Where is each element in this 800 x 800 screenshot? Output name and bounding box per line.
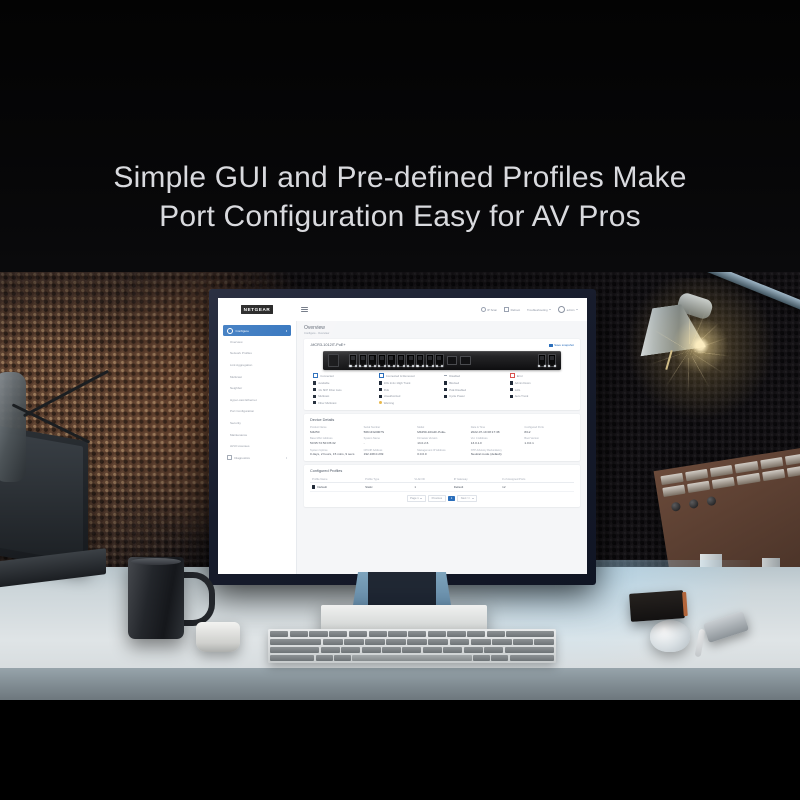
legend-item: Connected	[313, 373, 375, 378]
detail-field: Date & Time2022-07-19 08:17:38	[471, 426, 521, 434]
configured-profiles-title: Configured Profiles	[310, 469, 574, 473]
switch-ports	[349, 354, 471, 367]
lamp-light-glow	[612, 278, 782, 428]
sidebar-item-multicast[interactable]: Multicast	[218, 371, 296, 383]
studio-microphone	[0, 372, 26, 482]
poe-off-icon	[444, 388, 447, 391]
gear-icon	[227, 328, 233, 334]
detail-value: 0 days, 2 hours, 15 mins, 9 secs	[310, 452, 360, 456]
sidebar-item-maintenance[interactable]: Maintenance	[218, 429, 296, 441]
switch-port[interactable]	[368, 354, 376, 367]
lag-icon	[510, 388, 513, 391]
table-row[interactable]: Default Static 1 Default 12	[310, 483, 574, 492]
sidebar-item-port-configuration[interactable]: Port Configuration	[218, 406, 296, 418]
legend-label: Blocked	[449, 381, 459, 385]
legend-item: Fiber Multicast	[313, 401, 375, 405]
wrench-icon	[227, 455, 232, 460]
detail-key: Ver. 4 Address	[471, 437, 521, 440]
breadcrumb: Configure - Overview	[304, 332, 580, 335]
fiber-multicast-icon	[313, 401, 316, 404]
legend-item: LAG	[510, 388, 572, 392]
detail-field: Base MAC Address50:95:72:5F:D5:32	[310, 437, 360, 445]
bottom-black-band	[0, 700, 800, 800]
device-details-grid: Product NameM4250 Serial Number56K1FG000…	[310, 426, 574, 457]
chevron-right-icon	[286, 330, 287, 332]
sidebar-item-label: Network Profiles	[230, 351, 252, 355]
power-cycle-icon	[444, 395, 447, 398]
configured-profiles-table: Profile Name Profile Type VLAN ID IP Gat…	[310, 476, 574, 492]
switch-sfp-port[interactable]	[447, 356, 458, 365]
legend-item: Connected & Removed	[379, 373, 441, 378]
switch-port[interactable]	[397, 354, 405, 367]
switch-port[interactable]	[359, 354, 367, 367]
vlan-id-cell: 1	[412, 483, 451, 492]
switch-port[interactable]	[426, 354, 434, 367]
detail-value: 0.0.0.0	[417, 452, 467, 456]
trunk-icon	[379, 381, 382, 384]
dash-icon	[444, 375, 447, 376]
sidebar-item-avui-licenses[interactable]: AVUI Licenses	[218, 440, 296, 452]
detail-field: Ver. 4 Address13.0.1.F	[471, 437, 521, 445]
switch-port[interactable]	[378, 354, 386, 367]
switch-front-panel[interactable]	[323, 351, 561, 370]
detail-field: System Name-	[364, 437, 414, 445]
sidebar-item-label: Diagnostics	[234, 456, 250, 460]
legend-label: Connected & Removed	[386, 374, 415, 378]
monitor-screen: NETGEAR IP Scan Reboot	[218, 298, 587, 574]
headline: Simple GUI and Pre-defined Profiles Make…	[0, 158, 800, 236]
legend-label: Unauthorized	[384, 394, 401, 398]
detail-key: System Uptime	[310, 449, 360, 452]
detail-value: 50:95:72:5F:D5:32	[310, 441, 360, 445]
legend-label: Available	[318, 381, 329, 385]
desk-sphere-lamp	[650, 620, 690, 652]
legend-label: Fiber Multicast	[318, 401, 336, 405]
app-topbar: NETGEAR IP Scan Reboot	[218, 298, 587, 322]
assigned-ports-cell: 12	[500, 483, 574, 492]
detail-field: Boot Version1.0.0.1	[524, 437, 574, 445]
switch-console-port	[328, 354, 339, 367]
legend-label: Admin Down	[515, 381, 531, 385]
device-card-header: -MCR3-1012IT-PoE+ Save snapshot	[310, 343, 574, 347]
sidebar-item-label: Link Aggregation	[230, 363, 252, 367]
legend-item: Warning	[379, 401, 441, 405]
sidebar-item-security[interactable]: Security	[218, 417, 296, 429]
profile-type-cell: Static	[363, 483, 412, 492]
headline-line-1: Simple GUI and Pre-defined Profiles Make	[0, 158, 800, 197]
chevron-right-icon	[286, 457, 287, 459]
smart-speaker	[196, 622, 240, 652]
detail-value: 192.168.0.239	[364, 452, 414, 456]
account-label: admin	[567, 308, 575, 312]
user-avatar-icon	[558, 306, 565, 313]
detail-value: 56K1FG0007S	[364, 430, 414, 434]
legend-item: Multicast	[313, 394, 375, 398]
topbar-item-label: Troubleshooting	[527, 308, 548, 312]
page-size-label: Page 1	[410, 497, 419, 500]
switch-port[interactable]	[406, 354, 414, 367]
detail-value: 13.0.2.6	[417, 441, 467, 445]
hamburger-menu-icon[interactable]	[301, 307, 308, 312]
main-content: Overview Configure - Overview -MCR3-1012…	[297, 321, 587, 574]
desk-front-edge	[0, 668, 800, 700]
detail-key: NTP Advisory Redundancy	[471, 449, 521, 452]
sidebar-item-network-profiles[interactable]: Network Profiles	[218, 348, 296, 360]
chevron-down-icon	[576, 309, 578, 310]
legend-label: Multicast	[318, 394, 329, 398]
page-size-selector[interactable]: Page 1	[407, 495, 426, 502]
detail-field: Product NameM4250	[310, 426, 360, 434]
detail-value: 8/12	[524, 430, 574, 434]
keyboard[interactable]	[268, 629, 556, 663]
sidebar-item-label: Overview	[230, 340, 243, 344]
desktop-monitor: NETGEAR IP Scan Reboot	[209, 289, 596, 585]
detail-value: 1.0.0.1	[524, 441, 574, 445]
detail-field: Configured Ports8/12	[524, 426, 574, 434]
topbar-item-troubleshooting[interactable]: Troubleshooting	[527, 308, 551, 312]
legend-item: PoE	[379, 388, 441, 392]
marketing-hero-image: Simple GUI and Pre-defined Profiles Make…	[0, 0, 800, 800]
brand-logo-wrap: NETGEAR	[218, 305, 296, 313]
sidebar-item-overview[interactable]: Overview	[218, 336, 296, 348]
warning-icon	[379, 401, 382, 404]
app-body: Configure Overview Network Profiles Link…	[218, 321, 587, 574]
power-icon	[504, 307, 509, 312]
square-outline-red-icon	[510, 373, 515, 378]
sidebar-item-label: Multicast	[230, 375, 242, 379]
detail-field: NTP Advisory RedundancyNeutral mode (def…	[471, 449, 521, 457]
page-title: Overview	[304, 325, 580, 331]
netgear-switch-ui: NETGEAR IP Scan Reboot	[218, 298, 587, 574]
detail-key: System Name	[364, 437, 414, 440]
coffee-mug	[128, 557, 184, 639]
notebook	[629, 590, 685, 622]
switch-port[interactable]	[435, 354, 443, 367]
detail-key: Model	[417, 426, 467, 429]
switch-port[interactable]	[349, 354, 357, 367]
headline-band: Simple GUI and Pre-defined Profiles Make…	[0, 0, 800, 272]
topbar-actions: IP Scan Reboot Troubleshooting	[481, 306, 587, 313]
detail-key: Boot Version	[524, 437, 574, 440]
detail-key: Base MAC Address	[310, 437, 360, 440]
sidebar-item-hypercast-ethernet[interactable]: Hyper-cast Ethernet	[218, 394, 296, 406]
switch-uplink-port[interactable]	[538, 354, 546, 367]
legend-label: Error	[517, 374, 523, 378]
detail-key: CPU/IP Address	[364, 449, 414, 452]
blocked-icon	[444, 381, 447, 384]
square-outline-blue-icon	[313, 373, 318, 378]
detail-key: Configured Ports	[524, 426, 574, 429]
detail-key: Firmware Version	[417, 437, 467, 440]
detail-value: -	[364, 441, 414, 445]
ip-gateway-cell: Default	[452, 483, 500, 492]
sidebar-item-label: Security	[230, 421, 241, 425]
next-page-button[interactable]: Next >>	[457, 495, 477, 502]
legend-label: LAG	[515, 388, 521, 392]
next-label: Next >>	[461, 497, 470, 500]
legend-item: Disabled	[444, 373, 506, 378]
detail-value: 13.0.1.F	[471, 441, 521, 445]
profile-name-cell: Default	[310, 483, 363, 492]
detail-field: Management IP Address0.0.0.0	[417, 449, 467, 457]
detail-field: System Uptime0 days, 2 hours, 15 mins, 9…	[310, 449, 360, 457]
legend-item: 10G 2x1x 10gb Trunk	[379, 381, 441, 385]
mixer-knobs	[671, 496, 717, 512]
topbar-item-reboot[interactable]: Reboot	[504, 307, 520, 312]
legend-item: Available	[313, 381, 375, 385]
legend-label: Cycle Power	[449, 394, 465, 398]
sidebar-item-configure[interactable]: Configure	[223, 325, 291, 336]
legend-item: Cycle Power	[444, 394, 506, 398]
legend-label: Connected	[320, 374, 334, 378]
sidebar-item-label: AVUI Licenses	[230, 444, 249, 448]
device-details-title: Device Details	[310, 418, 574, 422]
legend-label: PoE	[384, 388, 389, 392]
sidebar-active-label: Configure	[236, 329, 249, 333]
sidebar-item-diagnostics[interactable]: Diagnostics	[218, 452, 296, 464]
previous-page-button[interactable]: Previous	[428, 495, 445, 502]
lock-icon	[379, 395, 382, 398]
legend-label: Warning	[384, 401, 394, 405]
switch-sfp-port[interactable]	[460, 356, 471, 365]
current-page-button[interactable]: 1	[448, 496, 455, 501]
detail-key: Date & Time	[471, 426, 521, 429]
detail-field: Serial Number56K1FG0007S	[364, 426, 414, 434]
detail-field: CPU/IP Address192.168.0.239	[364, 449, 414, 457]
legend-label: PoE Disabled	[449, 388, 466, 392]
sidebar-item-label: Port Configuration	[230, 409, 254, 413]
detail-key: Management IP Address	[417, 449, 467, 452]
legend-item: 1G SFP Fiber Auto	[313, 388, 375, 392]
fiber-icon	[313, 388, 316, 391]
legend-item: Auto Trunk	[510, 394, 572, 398]
legend-item: Unauthorized	[379, 394, 441, 398]
legend-item: PoE Disabled	[444, 388, 506, 392]
chevron-down-icon	[420, 498, 422, 499]
admin-down-icon	[510, 381, 513, 384]
auto-trunk-icon	[510, 395, 513, 398]
legend-label: 10G 2x1x 10gb Trunk	[384, 381, 411, 385]
detail-value: 2022-07-19 08:17:38	[471, 430, 521, 434]
topbar-item-label: Reboot	[511, 308, 520, 312]
sidebar-item-label: Hyper-cast Ethernet	[230, 398, 257, 402]
headline-line-2: Port Configuration Easy for AV Pros	[0, 197, 800, 236]
chevron-down-icon	[549, 309, 551, 310]
sidebar: Configure Overview Network Profiles Link…	[218, 321, 297, 574]
save-snapshot-button[interactable]: Save snapshot	[549, 343, 574, 347]
multicast-icon	[313, 395, 316, 398]
chevron-down-icon	[472, 498, 474, 499]
row-checkbox[interactable]	[312, 485, 315, 488]
sidebar-item-label: Maintenance	[230, 433, 247, 437]
sidebar-item-neighbor[interactable]: Neighbor	[218, 382, 296, 394]
poe-icon	[379, 388, 382, 391]
device-details-card: Device Details Product NameM4250 Serial …	[304, 414, 580, 462]
device-model-title: -MCR3-1012IT-PoE+	[310, 343, 346, 347]
previous-label: Previous	[432, 497, 442, 500]
legend-label: 1G SFP Fiber Auto	[318, 388, 341, 392]
detail-field: Firmware Version13.0.2.6	[417, 437, 467, 445]
configured-profiles-card: Configured Profiles Profile Name Profile…	[304, 465, 580, 506]
port-status-legend: Connected Connected & Removed Disabled E…	[310, 373, 574, 405]
detail-field: ModelM4250-10G2F-PoE+	[417, 426, 467, 434]
detail-value: M4250-10G2F-PoE+	[417, 430, 467, 434]
pagination: Page 1 Previous 1 Next >>	[310, 495, 574, 502]
switch-uplink-port[interactable]	[548, 354, 556, 367]
topbar-account[interactable]: admin	[558, 306, 578, 313]
legend-item: Admin Down	[510, 381, 572, 385]
legend-item: Blocked	[444, 381, 506, 385]
legend-item: Error	[510, 373, 572, 378]
detail-key: Serial Number	[364, 426, 414, 429]
switch-port[interactable]	[416, 354, 424, 367]
topbar-item-label: IP Scan	[487, 308, 497, 312]
detail-key: Product Name	[310, 426, 360, 429]
device-panel-card: -MCR3-1012IT-PoE+ Save snapshot	[304, 339, 580, 410]
switch-graphic-wrap	[310, 351, 574, 370]
camera-icon	[549, 344, 552, 347]
sidebar-item-link-aggregation[interactable]: Link Aggregation	[218, 359, 296, 371]
netgear-logo: NETGEAR	[241, 305, 274, 313]
desk-scene: NETGEAR IP Scan Reboot	[0, 272, 800, 700]
square-outline-blue-icon	[379, 373, 384, 378]
legend-label: Disabled	[449, 374, 460, 378]
switch-uplink-ports	[538, 354, 556, 367]
sidebar-item-label: Neighbor	[230, 386, 242, 390]
detail-value: Neutral mode (default)	[471, 452, 521, 456]
legend-label: Auto Trunk	[515, 394, 529, 398]
switch-port[interactable]	[387, 354, 395, 367]
save-snapshot-label: Save snapshot	[554, 343, 574, 347]
topbar-item-ip-scan[interactable]: IP Scan	[481, 307, 498, 312]
square-filled-icon	[313, 381, 316, 384]
detail-value: M4250	[310, 430, 360, 434]
profile-name: Default	[317, 485, 327, 489]
globe-icon	[481, 307, 486, 312]
